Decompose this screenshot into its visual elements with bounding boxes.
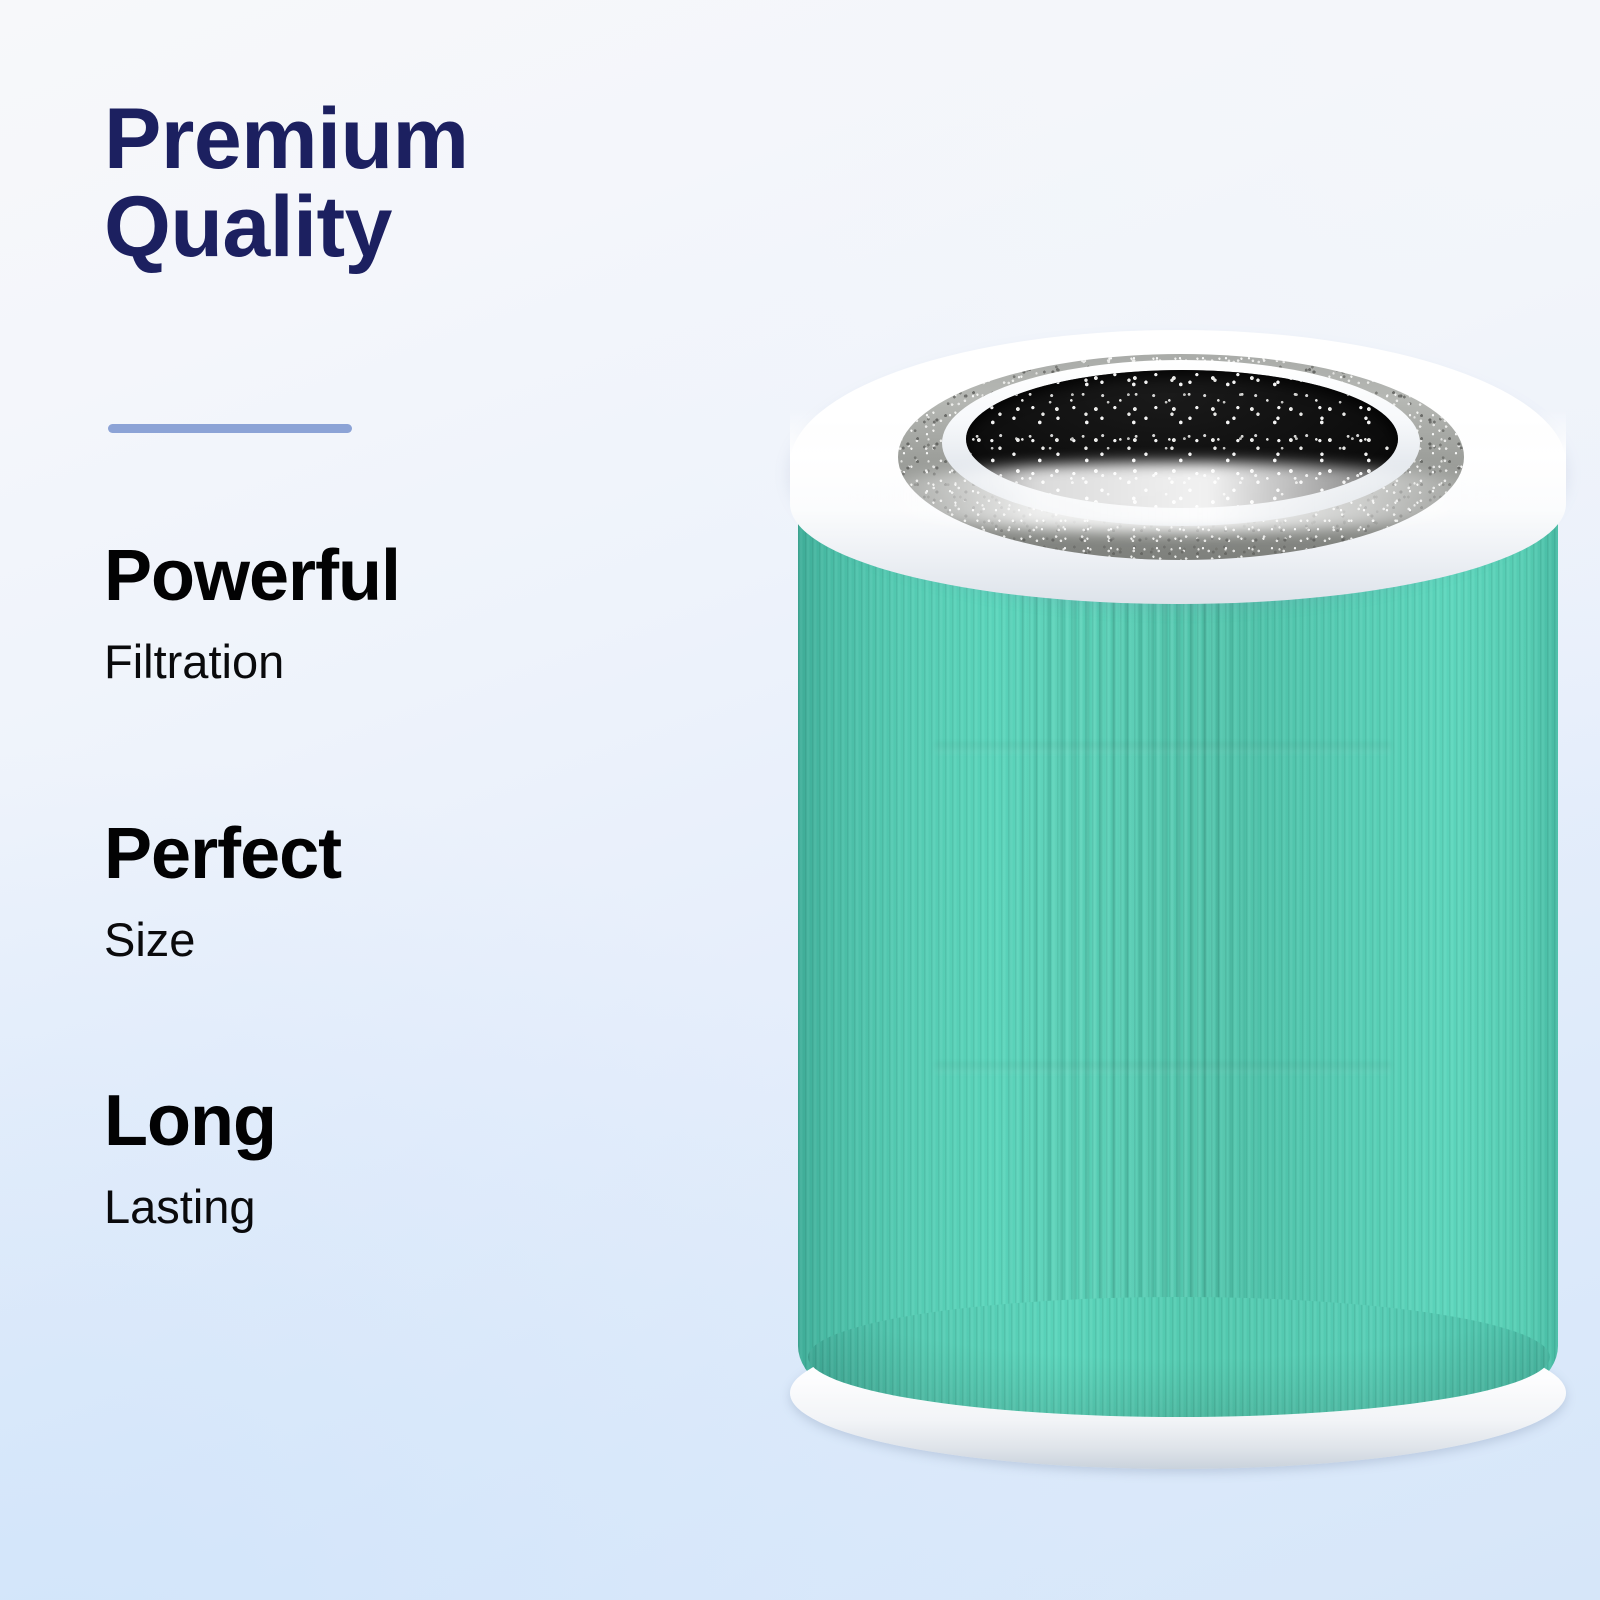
feature-title: Perfect xyxy=(104,818,341,890)
product-feature-graphic: Premium Quality Powerful Filtration Perf… xyxy=(0,0,1600,1600)
activated-carbon-core xyxy=(966,370,1398,508)
title-divider xyxy=(108,424,352,433)
feature-item-long: Long Lasting xyxy=(104,1085,276,1230)
filter-media-bottom-edge xyxy=(808,1297,1550,1417)
feature-subtitle: Filtration xyxy=(104,638,400,685)
pleat-seam xyxy=(935,1062,1391,1074)
feature-title: Powerful xyxy=(104,540,400,612)
feature-item-perfect: Perfect Size xyxy=(104,818,341,963)
product-image-air-filter xyxy=(790,312,1600,1472)
feature-subtitle: Lasting xyxy=(104,1183,276,1230)
copy-column: Premium Quality xyxy=(104,96,664,271)
bottom-shading xyxy=(808,1297,1550,1417)
page-title: Premium Quality xyxy=(104,96,664,271)
feature-subtitle: Size xyxy=(104,916,341,963)
feature-title: Long xyxy=(104,1085,276,1157)
feature-item-powerful: Powerful Filtration xyxy=(104,540,400,685)
carbon-speckle-texture xyxy=(966,370,1398,508)
pleat-seam xyxy=(935,742,1391,754)
